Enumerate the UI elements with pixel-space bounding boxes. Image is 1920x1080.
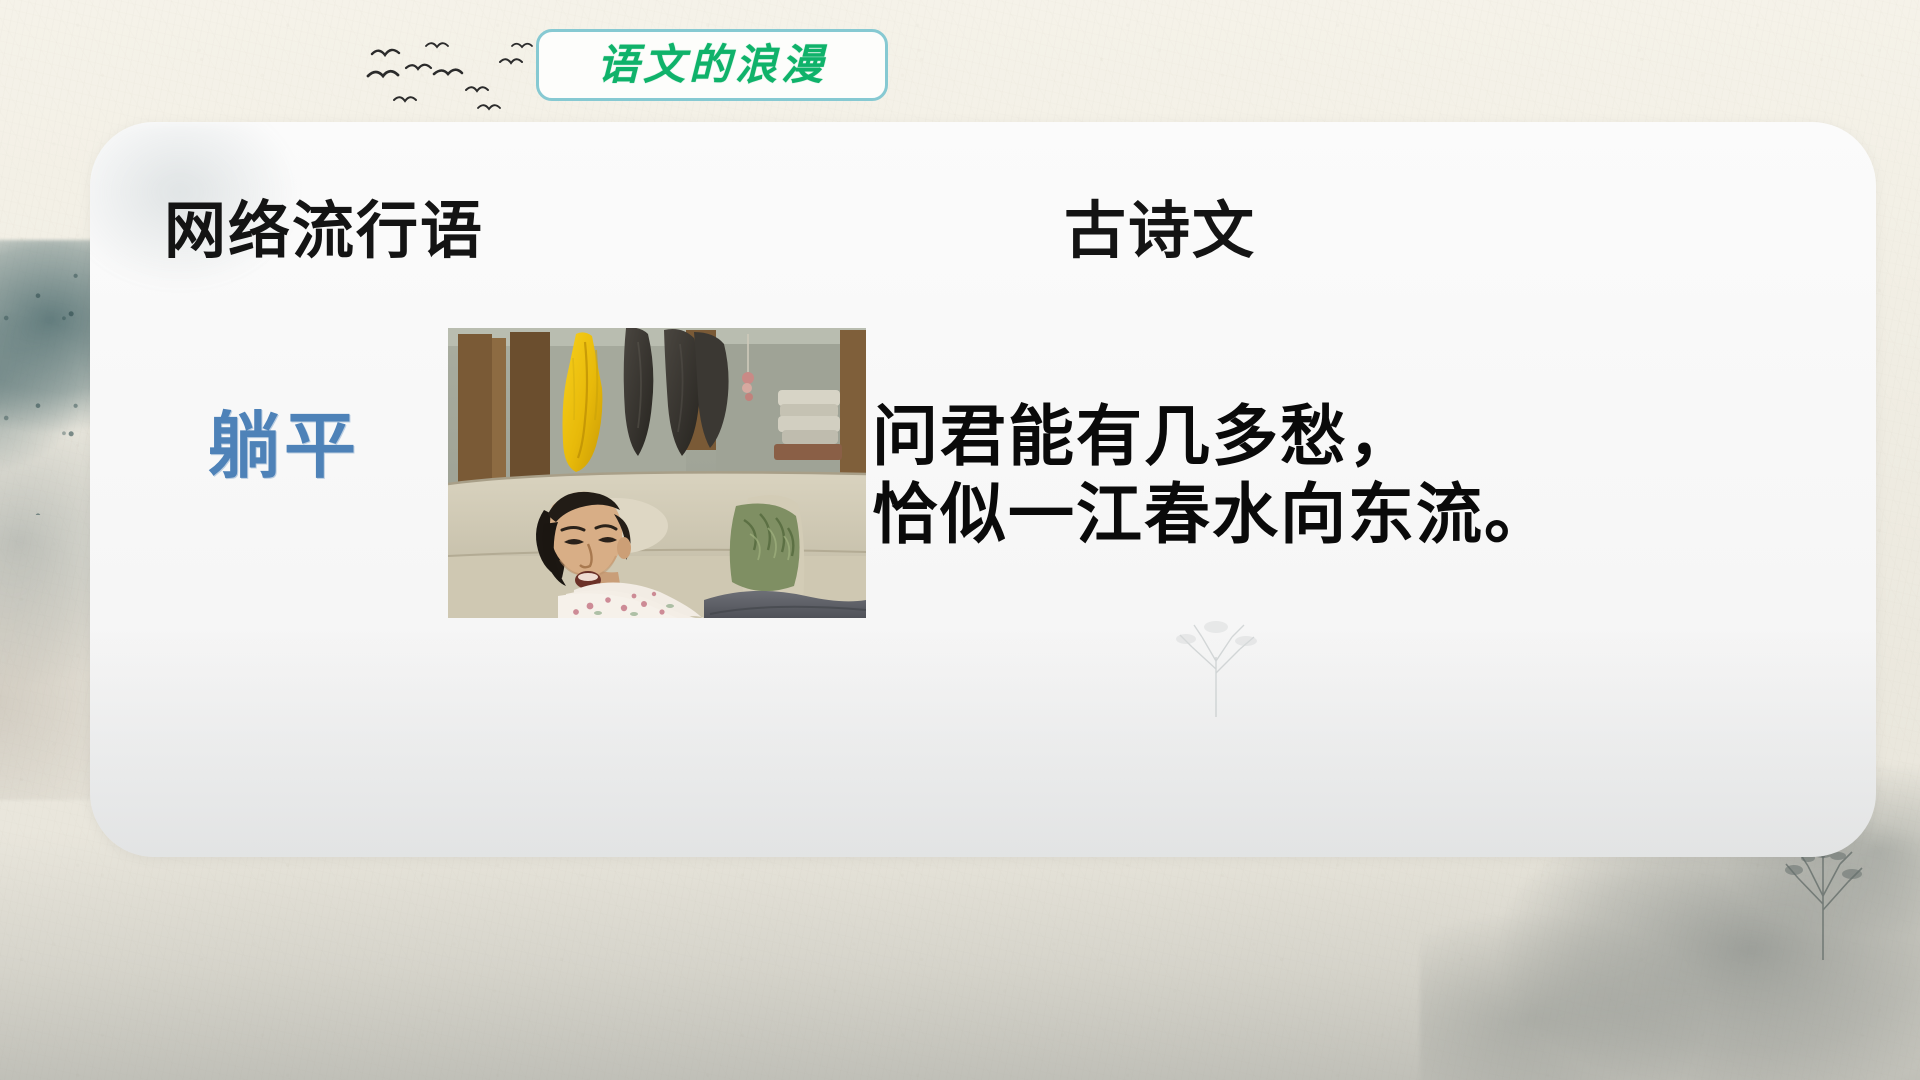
flying-birds-icon bbox=[362, 38, 562, 128]
poem-line-1: 问君能有几多愁， bbox=[872, 398, 1832, 476]
poem-line-2: 恰似一江春水向东流。 bbox=[872, 476, 1832, 554]
slide-title-text: 语文的浪漫 bbox=[597, 44, 827, 86]
slide-canvas: 语文的浪漫 网络流行语 古诗文 躺平 bbox=[0, 0, 1920, 1080]
ink-mist-bottom bbox=[0, 830, 1920, 1080]
card-ghost-tree-icon bbox=[1156, 607, 1276, 717]
classical-poem: 问君能有几多愁， 恰似一江春水向东流。 bbox=[872, 398, 1832, 554]
slide-title-badge: 语文的浪漫 bbox=[536, 29, 888, 101]
sitcom-man-lying-on-sofa-photo bbox=[448, 328, 866, 618]
buzzword-term: 躺平 bbox=[208, 410, 360, 482]
column-heading-classical: 古诗文 bbox=[1064, 200, 1256, 262]
column-heading-buzzword: 网络流行语 bbox=[164, 200, 484, 262]
card-ghost-mist-bottom bbox=[90, 627, 1876, 857]
